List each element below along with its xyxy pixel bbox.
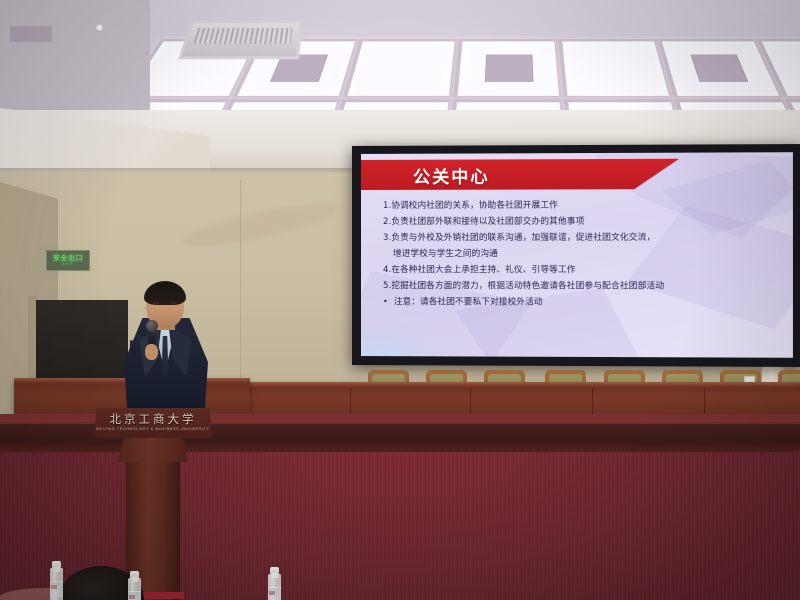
- speaker-eye-right: [170, 302, 176, 304]
- air-conditioner-vent-icon: [178, 20, 302, 59]
- speaker-hand: [145, 344, 158, 360]
- wall-panel-seam: [240, 180, 241, 380]
- speaker-eye-left: [153, 302, 159, 304]
- emergency-exit-sign: 安全出口 EXIT: [46, 250, 90, 271]
- conference-hall-photo: 安全出口 EXIT 公关中心 1.协调校内社团的关系，协助各社团开展工作 2.负…: [0, 0, 800, 600]
- slide-bullet: 1.协调校内社团的关系，协助各社团开展工作: [383, 201, 778, 210]
- ceiling-recessed-fixture-icon: [485, 55, 534, 82]
- podium-university-name-cn: 北京工商大学: [94, 411, 212, 427]
- water-bottle: [50, 568, 63, 600]
- exit-sign-label-en: EXIT: [63, 263, 74, 267]
- ceiling-light-panel: [558, 39, 674, 99]
- slide-bullet: 4.在各种社团大会上承担主持、礼仪、引导等工作: [383, 266, 778, 275]
- water-bottle: [268, 574, 281, 600]
- slide-title-banner: 公关中心: [361, 159, 679, 190]
- podium-neck: [118, 436, 188, 462]
- ceiling-recessed-fixture-icon: [690, 55, 748, 82]
- projection-screen: 公关中心 1.协调校内社团的关系，协助各社团开展工作 2.负责社团部外联和接待以…: [352, 144, 800, 367]
- water-bottle: [128, 578, 141, 600]
- slide-bullet-continuation: 增进学校与学生之间的沟通: [393, 250, 778, 259]
- exit-sign-label-cn: 安全出口: [53, 255, 83, 262]
- ceiling: [0, 0, 800, 124]
- slide-title: 公关中心: [413, 162, 489, 187]
- presentation-slide: 公关中心 1.协调校内社团的关系，协助各社团开展工作 2.负责社团部外联和接待以…: [361, 152, 793, 358]
- podium-front-panel: 北京工商大学 BEIJING TECHNOLOGY & BUSINESS UNI…: [94, 408, 212, 438]
- slide-bullet: 2.负责社团部外联和接待以及社团部交办的其他事项: [383, 217, 778, 226]
- slide-note-bullet: 注意：请各社团不要私下对接校外活动: [383, 298, 778, 307]
- ceiling-light-panel: [342, 39, 459, 99]
- ceiling-spotlight-icon: [96, 24, 103, 31]
- slide-bullet: 3.负责与外校及外销社团的联系沟通，加强联谊，促进社团文化交流，: [383, 234, 778, 243]
- slide-body: 1.协调校内社团的关系，协助各社团开展工作 2.负责社团部外联和接待以及社团部交…: [383, 201, 778, 315]
- slide-bullet: 5.挖掘社团各方面的潜力，根据活动特色邀请各社团参与配合社团部活动: [383, 282, 778, 291]
- slide-decor-glow: [361, 320, 455, 358]
- podium-university-name-en: BEIJING TECHNOLOGY & BUSINESS UNIVERSITY: [94, 427, 212, 431]
- microphone-head-icon: [146, 320, 158, 332]
- ceiling-light-panel: [453, 39, 564, 99]
- ceiling-left-soffit: [0, 0, 150, 124]
